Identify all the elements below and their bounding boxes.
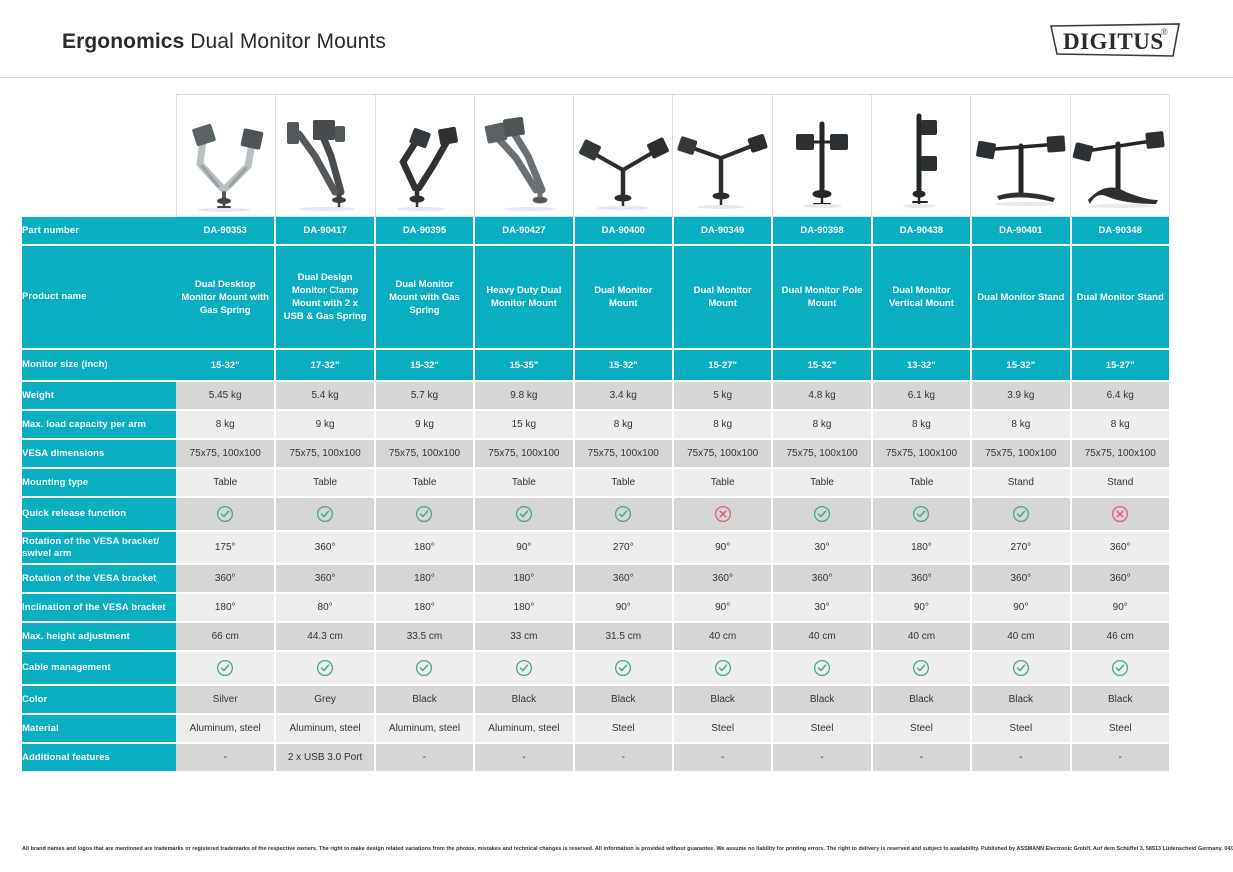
cell-mounting-4: Table <box>574 468 673 497</box>
cell-height-4: 31.5 cm <box>574 622 673 651</box>
cell-incl-9: 90° <box>1071 593 1170 622</box>
cell-quick-release-0 <box>176 497 275 531</box>
table-row-cable-management: Cable management <box>22 651 1170 685</box>
cell-addl-2: - <box>375 743 474 772</box>
table-row-rotation-bracket-swivel: Rotation of the VESA bracket/ swivel arm… <box>22 531 1170 564</box>
cell-max-load-2: 9 kg <box>375 410 474 439</box>
cell-cable-5 <box>673 651 772 685</box>
cell-product-name-9: Dual Monitor Stand <box>1071 245 1170 349</box>
cell-rot-bracket-1: 360° <box>275 564 374 593</box>
cell-max-load-0: 8 kg <box>176 410 275 439</box>
cell-weight-3: 9.8 kg <box>474 381 573 410</box>
row-label-cable-management: Cable management <box>22 651 176 685</box>
cell-product-name-3: Heavy Duty Dual Monitor Mount <box>474 245 573 349</box>
cell-quick-release-3 <box>474 497 573 531</box>
cell-height-1: 44.3 cm <box>275 622 374 651</box>
product-image-2 <box>376 95 475 216</box>
cell-quick-release-1 <box>275 497 374 531</box>
cell-part-number-2: DA-90395 <box>375 217 474 245</box>
logo-shape: DIGITUS ® <box>1049 22 1181 60</box>
table-body: Part number DA-90353 DA-90417 DA-90395 D… <box>22 217 1170 772</box>
cell-height-6: 40 cm <box>772 622 871 651</box>
cell-material-6: Steel <box>772 714 871 743</box>
cell-monitor-size-0: 15-32" <box>176 349 275 381</box>
cell-vesa-4: 75x75, 100x100 <box>574 439 673 468</box>
product-image-3 <box>475 95 574 216</box>
logo-wordmark: DIGITUS <box>1063 29 1164 54</box>
cell-material-9: Steel <box>1071 714 1170 743</box>
cell-incl-2: 180° <box>375 593 474 622</box>
check-icon <box>1012 505 1030 523</box>
cell-addl-7: - <box>872 743 971 772</box>
cell-part-number-9: DA-90348 <box>1071 217 1170 245</box>
cell-height-3: 33 cm <box>474 622 573 651</box>
cell-rot-swivel-1: 360° <box>275 531 374 564</box>
cell-weight-8: 3.9 kg <box>971 381 1070 410</box>
row-label-rotation-bracket-swivel: Rotation of the VESA bracket/ swivel arm <box>22 531 176 564</box>
cell-weight-7: 6.1 kg <box>872 381 971 410</box>
digitus-logo: DIGITUS ® <box>1049 22 1181 60</box>
cell-monitor-size-5: 15-27" <box>673 349 772 381</box>
cell-cable-0 <box>176 651 275 685</box>
cell-part-number-7: DA-90438 <box>872 217 971 245</box>
cell-addl-6: - <box>772 743 871 772</box>
cell-max-load-9: 8 kg <box>1071 410 1170 439</box>
table-row-weight: Weight 5.45 kg 5.4 kg 5.7 kg 9.8 kg 3.4 … <box>22 381 1170 410</box>
cell-part-number-1: DA-90417 <box>275 217 374 245</box>
cell-rot-bracket-9: 360° <box>1071 564 1170 593</box>
cell-rot-swivel-3: 90° <box>474 531 573 564</box>
cell-cable-8 <box>971 651 1070 685</box>
check-icon <box>1012 659 1030 677</box>
cell-quick-release-8 <box>971 497 1070 531</box>
product-image-5 <box>673 95 772 216</box>
table-row-max-load: Max. load capacity per arm 8 kg 9 kg 9 k… <box>22 410 1170 439</box>
cell-part-number-0: DA-90353 <box>176 217 275 245</box>
cell-quick-release-9 <box>1071 497 1170 531</box>
cell-rot-bracket-6: 360° <box>772 564 871 593</box>
product-image-8 <box>971 95 1070 216</box>
datasheet-page: Ergonomics Dual Monitor Mounts DIGITUS ® <box>0 0 1233 872</box>
table-row-material: Material Aluminum, steel Aluminum, steel… <box>22 714 1170 743</box>
cell-material-2: Aluminum, steel <box>375 714 474 743</box>
cell-addl-0: - <box>176 743 275 772</box>
cell-material-0: Aluminum, steel <box>176 714 275 743</box>
cell-monitor-size-2: 15-32" <box>375 349 474 381</box>
cell-mounting-5: Table <box>673 468 772 497</box>
cell-cable-2 <box>375 651 474 685</box>
check-icon <box>714 659 732 677</box>
cell-part-number-5: DA-90349 <box>673 217 772 245</box>
cell-monitor-size-9: 15-27" <box>1071 349 1170 381</box>
row-label-product-name: Product name <box>22 245 176 349</box>
table-row-color: Color Silver Grey Black Black Black Blac… <box>22 685 1170 714</box>
check-icon <box>912 505 930 523</box>
cell-incl-0: 180° <box>176 593 275 622</box>
cell-vesa-7: 75x75, 100x100 <box>872 439 971 468</box>
cell-rot-bracket-2: 180° <box>375 564 474 593</box>
cell-rot-swivel-6: 30° <box>772 531 871 564</box>
product-image-9 <box>1071 95 1169 216</box>
check-icon <box>415 505 433 523</box>
cell-color-2: Black <box>375 685 474 714</box>
cell-color-3: Black <box>474 685 573 714</box>
cell-max-load-6: 8 kg <box>772 410 871 439</box>
cell-product-name-2: Dual Monitor Mount with Gas Spring <box>375 245 474 349</box>
page-title-strong: Ergonomics <box>62 30 184 53</box>
cell-monitor-size-4: 15-32" <box>574 349 673 381</box>
row-label-color: Color <box>22 685 176 714</box>
cell-incl-6: 30° <box>772 593 871 622</box>
cell-material-4: Steel <box>574 714 673 743</box>
cell-cable-7 <box>872 651 971 685</box>
cell-monitor-size-1: 17-32" <box>275 349 374 381</box>
product-image-strip <box>176 94 1170 217</box>
check-icon <box>216 505 234 523</box>
cell-weight-1: 5.4 kg <box>275 381 374 410</box>
cell-weight-6: 4.8 kg <box>772 381 871 410</box>
cell-material-7: Steel <box>872 714 971 743</box>
check-icon <box>515 505 533 523</box>
check-icon <box>813 659 831 677</box>
cell-rot-bracket-5: 360° <box>673 564 772 593</box>
cell-weight-5: 5 kg <box>673 381 772 410</box>
cell-vesa-0: 75x75, 100x100 <box>176 439 275 468</box>
check-icon <box>912 659 930 677</box>
page-title-light: Dual Monitor Mounts <box>190 30 386 53</box>
row-label-part-number: Part number <box>22 217 176 245</box>
cell-product-name-5: Dual Monitor Mount <box>673 245 772 349</box>
cell-rot-swivel-2: 180° <box>375 531 474 564</box>
cell-color-6: Black <box>772 685 871 714</box>
cell-mounting-9: Stand <box>1071 468 1170 497</box>
table-row-mounting-type: Mounting type Table Table Table Table Ta… <box>22 468 1170 497</box>
cell-monitor-size-3: 15-35" <box>474 349 573 381</box>
cell-product-name-8: Dual Monitor Stand <box>971 245 1070 349</box>
cell-part-number-8: DA-90401 <box>971 217 1070 245</box>
cell-monitor-size-7: 13-32" <box>872 349 971 381</box>
cell-color-5: Black <box>673 685 772 714</box>
cell-product-name-1: Dual Design Monitor Clamp Mount with 2 x… <box>275 245 374 349</box>
cell-rot-bracket-3: 180° <box>474 564 573 593</box>
row-label-monitor-size: Monitor size (inch) <box>22 349 176 381</box>
table-row-inclination: Inclination of the VESA bracket 180° 80°… <box>22 593 1170 622</box>
cell-addl-3: - <box>474 743 573 772</box>
cell-rot-swivel-9: 360° <box>1071 531 1170 564</box>
row-label-vesa-dimensions: VESA dimensions <box>22 439 176 468</box>
cell-mounting-7: Table <box>872 468 971 497</box>
cell-product-name-6: Dual Monitor Pole Mount <box>772 245 871 349</box>
cell-material-8: Steel <box>971 714 1070 743</box>
cell-mounting-0: Table <box>176 468 275 497</box>
table-row-part-number: Part number DA-90353 DA-90417 DA-90395 D… <box>22 217 1170 245</box>
footer-disclaimer: All brand names and logos that are menti… <box>22 845 1218 853</box>
cell-max-load-1: 9 kg <box>275 410 374 439</box>
product-image-0 <box>177 95 276 216</box>
cell-weight-4: 3.4 kg <box>574 381 673 410</box>
table-row-rotation-bracket: Rotation of the VESA bracket 360° 360° 1… <box>22 564 1170 593</box>
cell-rot-swivel-5: 90° <box>673 531 772 564</box>
cell-material-3: Aluminum, steel <box>474 714 573 743</box>
table-row-product-name: Product name Dual Desktop Monitor Mount … <box>22 245 1170 349</box>
cell-rot-swivel-7: 180° <box>872 531 971 564</box>
cell-mounting-3: Table <box>474 468 573 497</box>
cell-quick-release-5 <box>673 497 772 531</box>
cell-quick-release-2 <box>375 497 474 531</box>
cell-height-0: 66 cm <box>176 622 275 651</box>
cell-vesa-5: 75x75, 100x100 <box>673 439 772 468</box>
check-icon <box>813 505 831 523</box>
cell-cable-1 <box>275 651 374 685</box>
cell-monitor-size-6: 15-32" <box>772 349 871 381</box>
cell-cable-4 <box>574 651 673 685</box>
check-icon <box>316 505 334 523</box>
cell-vesa-8: 75x75, 100x100 <box>971 439 1070 468</box>
cell-rot-swivel-0: 175° <box>176 531 275 564</box>
cell-color-7: Black <box>872 685 971 714</box>
row-label-max-height: Max. height adjustment <box>22 622 176 651</box>
check-icon <box>415 659 433 677</box>
cell-vesa-2: 75x75, 100x100 <box>375 439 474 468</box>
cell-cable-9 <box>1071 651 1170 685</box>
check-icon <box>515 659 533 677</box>
cell-height-8: 40 cm <box>971 622 1070 651</box>
cell-vesa-9: 75x75, 100x100 <box>1071 439 1170 468</box>
cell-max-load-8: 8 kg <box>971 410 1070 439</box>
cell-mounting-6: Table <box>772 468 871 497</box>
cell-material-5: Steel <box>673 714 772 743</box>
cell-incl-8: 90° <box>971 593 1070 622</box>
cell-color-1: Grey <box>275 685 374 714</box>
cell-rot-bracket-4: 360° <box>574 564 673 593</box>
row-label-weight: Weight <box>22 381 176 410</box>
cell-rot-swivel-4: 270° <box>574 531 673 564</box>
spec-comparison-table: Part number DA-90353 DA-90417 DA-90395 D… <box>22 217 1171 773</box>
table-row-quick-release: Quick release function <box>22 497 1170 531</box>
cell-quick-release-7 <box>872 497 971 531</box>
row-label-additional-features: Additional features <box>22 743 176 772</box>
cross-icon <box>1111 505 1129 523</box>
cell-material-1: Aluminum, steel <box>275 714 374 743</box>
product-image-6 <box>773 95 872 216</box>
product-image-4 <box>574 95 673 216</box>
cell-addl-8: - <box>971 743 1070 772</box>
table-row-monitor-size: Monitor size (inch) 15-32" 17-32" 15-32"… <box>22 349 1170 381</box>
product-image-1 <box>276 95 375 216</box>
cell-part-number-6: DA-90398 <box>772 217 871 245</box>
check-icon <box>316 659 334 677</box>
table-row-vesa-dimensions: VESA dimensions 75x75, 100x100 75x75, 10… <box>22 439 1170 468</box>
page-title: Ergonomics Dual Monitor Mounts <box>62 30 386 54</box>
row-label-quick-release: Quick release function <box>22 497 176 531</box>
cell-product-name-4: Dual Monitor Mount <box>574 245 673 349</box>
cell-mounting-2: Table <box>375 468 474 497</box>
row-label-material: Material <box>22 714 176 743</box>
logo-registered-mark: ® <box>1161 27 1168 37</box>
cell-addl-9: - <box>1071 743 1170 772</box>
cross-icon <box>714 505 732 523</box>
cell-monitor-size-8: 15-32" <box>971 349 1070 381</box>
table-row-max-height-adjustment: Max. height adjustment 66 cm 44.3 cm 33.… <box>22 622 1170 651</box>
cell-addl-4: - <box>574 743 673 772</box>
cell-color-4: Black <box>574 685 673 714</box>
check-icon <box>614 505 632 523</box>
check-icon <box>1111 659 1129 677</box>
cell-part-number-3: DA-90427 <box>474 217 573 245</box>
cell-incl-7: 90° <box>872 593 971 622</box>
row-label-max-load: Max. load capacity per arm <box>22 410 176 439</box>
cell-height-7: 40 cm <box>872 622 971 651</box>
cell-addl-5: - <box>673 743 772 772</box>
cell-mounting-1: Table <box>275 468 374 497</box>
cell-weight-9: 6.4 kg <box>1071 381 1170 410</box>
cell-rot-bracket-7: 360° <box>872 564 971 593</box>
cell-max-load-7: 8 kg <box>872 410 971 439</box>
cell-part-number-4: DA-90400 <box>574 217 673 245</box>
cell-addl-1: 2 x USB 3.0 Port <box>275 743 374 772</box>
cell-quick-release-4 <box>574 497 673 531</box>
cell-max-load-5: 8 kg <box>673 410 772 439</box>
cell-quick-release-6 <box>772 497 871 531</box>
cell-height-2: 33.5 cm <box>375 622 474 651</box>
cell-color-9: Black <box>1071 685 1170 714</box>
cell-max-load-3: 15 kg <box>474 410 573 439</box>
cell-rot-bracket-8: 360° <box>971 564 1070 593</box>
cell-incl-3: 180° <box>474 593 573 622</box>
cell-cable-3 <box>474 651 573 685</box>
cell-vesa-3: 75x75, 100x100 <box>474 439 573 468</box>
cell-color-8: Black <box>971 685 1070 714</box>
product-image-7 <box>872 95 971 216</box>
cell-color-0: Silver <box>176 685 275 714</box>
check-icon <box>216 659 234 677</box>
cell-vesa-6: 75x75, 100x100 <box>772 439 871 468</box>
cell-product-name-0: Dual Desktop Monitor Mount with Gas Spri… <box>176 245 275 349</box>
cell-mounting-8: Stand <box>971 468 1070 497</box>
cell-product-name-7: Dual Monitor Vertical Mount <box>872 245 971 349</box>
row-label-inclination: Inclination of the VESA bracket <box>22 593 176 622</box>
cell-vesa-1: 75x75, 100x100 <box>275 439 374 468</box>
cell-height-5: 40 cm <box>673 622 772 651</box>
cell-max-load-4: 8 kg <box>574 410 673 439</box>
cell-weight-2: 5.7 kg <box>375 381 474 410</box>
row-label-mounting-type: Mounting type <box>22 468 176 497</box>
check-icon <box>614 659 632 677</box>
cell-cable-6 <box>772 651 871 685</box>
cell-incl-5: 90° <box>673 593 772 622</box>
page-header: Ergonomics Dual Monitor Mounts DIGITUS ® <box>0 0 1233 78</box>
cell-height-9: 46 cm <box>1071 622 1170 651</box>
row-label-rotation-bracket: Rotation of the VESA bracket <box>22 564 176 593</box>
cell-rot-swivel-8: 270° <box>971 531 1070 564</box>
cell-incl-1: 80° <box>275 593 374 622</box>
table-row-additional-features: Additional features - 2 x USB 3.0 Port -… <box>22 743 1170 772</box>
cell-rot-bracket-0: 360° <box>176 564 275 593</box>
cell-incl-4: 90° <box>574 593 673 622</box>
cell-weight-0: 5.45 kg <box>176 381 275 410</box>
